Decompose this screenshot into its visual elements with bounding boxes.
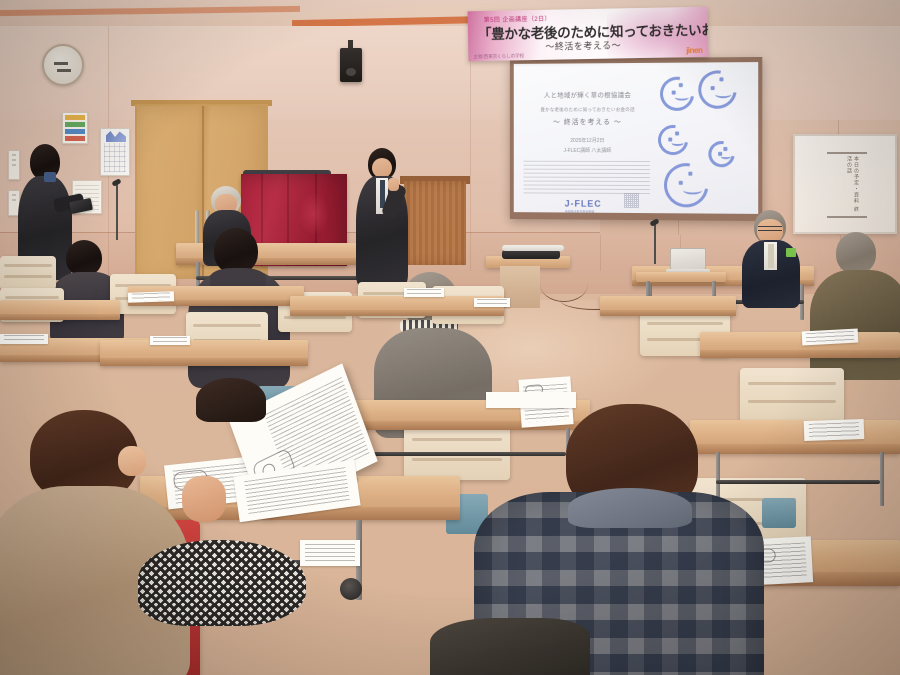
handout-paper[interactable] bbox=[0, 334, 48, 344]
wall-poster-calendar bbox=[100, 128, 130, 176]
slide-fine-print bbox=[524, 161, 650, 195]
projector bbox=[502, 250, 560, 259]
wall-seam bbox=[470, 26, 471, 271]
lanyard bbox=[44, 172, 56, 182]
handout-paper[interactable] bbox=[300, 540, 360, 566]
smiley-face-icon bbox=[652, 119, 694, 161]
sleeve-houndstooth bbox=[138, 540, 306, 626]
handout-paper[interactable] bbox=[486, 392, 576, 408]
banner-logo: jinen bbox=[686, 46, 702, 55]
chair[interactable] bbox=[0, 256, 56, 290]
slide-date: 2025年12月2日 bbox=[524, 137, 652, 144]
event-banner: 第5回 企画講座（2日） 「豊かな老後のために知っておきたいお金の話」 〜終活を… bbox=[468, 7, 709, 62]
smiley-face-icon bbox=[691, 63, 745, 116]
seminar-table bbox=[600, 296, 736, 316]
jflec-logo-sub: 金融経済教育推進機構 bbox=[565, 210, 595, 214]
smiley-face-icon bbox=[655, 154, 717, 213]
ceiling-speaker bbox=[340, 48, 362, 82]
whiteboard: 本日の予定・資料 終活の話 bbox=[793, 134, 897, 234]
head bbox=[66, 240, 102, 276]
microphone-stand-left bbox=[116, 182, 118, 240]
handout-paper[interactable] bbox=[804, 419, 865, 441]
wall-clock bbox=[42, 44, 84, 86]
projector-top bbox=[502, 245, 564, 251]
handout-paper[interactable] bbox=[474, 298, 510, 307]
face-profile bbox=[118, 446, 146, 476]
presentation-slide: 人と地域が輝く草の根協議会 豊かな老後のために知っておきたいお金の話 〜 終活を… bbox=[514, 62, 758, 214]
torso bbox=[810, 270, 900, 380]
slide-subtitle: 豊かな老後のために知っておきたいお金の話 bbox=[524, 107, 652, 113]
hand bbox=[388, 178, 399, 191]
eyeglasses-icon bbox=[758, 226, 782, 231]
slide-theme: 〜 終活を考える 〜 bbox=[524, 117, 652, 127]
handout-paper[interactable] bbox=[128, 291, 174, 303]
qr-code-icon bbox=[624, 193, 639, 208]
person-partial-foreground bbox=[430, 618, 590, 675]
seminar-table bbox=[690, 420, 900, 454]
table-caster-wheel bbox=[340, 578, 362, 600]
seminar-table bbox=[100, 340, 308, 366]
person-partial-back bbox=[196, 378, 266, 422]
collar bbox=[568, 488, 692, 528]
slide-venue: J-FLEC講師 八太講師 bbox=[524, 147, 652, 154]
microphone-stand bbox=[654, 222, 656, 264]
banner-footer: 主催/西東京くらしの学校 bbox=[473, 53, 524, 60]
wooden-lectern-panel bbox=[404, 181, 466, 265]
wall-poster-small-upper bbox=[8, 150, 20, 180]
face bbox=[372, 158, 392, 178]
chair[interactable] bbox=[404, 422, 510, 480]
photograph-scene: 本日の予定・資料 終活の話 人と地域が輝く草の根協議会 豊かな老後のために知って… bbox=[0, 0, 900, 675]
hand bbox=[182, 476, 226, 522]
wall-poster-chart bbox=[62, 112, 88, 144]
name-tag bbox=[786, 248, 796, 257]
handout-paper[interactable] bbox=[150, 336, 190, 345]
handout-paper[interactable] bbox=[404, 288, 444, 297]
whiteboard-text: 本日の予定・資料 終活の話 bbox=[833, 156, 859, 214]
jflec-logo: J-FLEC bbox=[565, 199, 602, 209]
slide-organization: 人と地域が輝く草の根協議会 bbox=[524, 89, 652, 100]
seminar-table bbox=[290, 296, 504, 316]
smiley-face-icon bbox=[703, 136, 740, 173]
necktie bbox=[768, 244, 774, 268]
laptop-screen[interactable] bbox=[670, 248, 706, 270]
chair-seat[interactable] bbox=[762, 498, 796, 528]
chair[interactable] bbox=[740, 368, 844, 422]
seminar-table bbox=[0, 300, 120, 320]
projector-screen: 人と地域が輝く草の根協議会 豊かな老後のために知っておきたいお金の話 〜 終活を… bbox=[510, 57, 762, 221]
handout-paper[interactable] bbox=[802, 329, 859, 346]
head bbox=[836, 232, 876, 274]
smiley-face-icon bbox=[653, 70, 701, 118]
seminar-table bbox=[700, 332, 900, 358]
